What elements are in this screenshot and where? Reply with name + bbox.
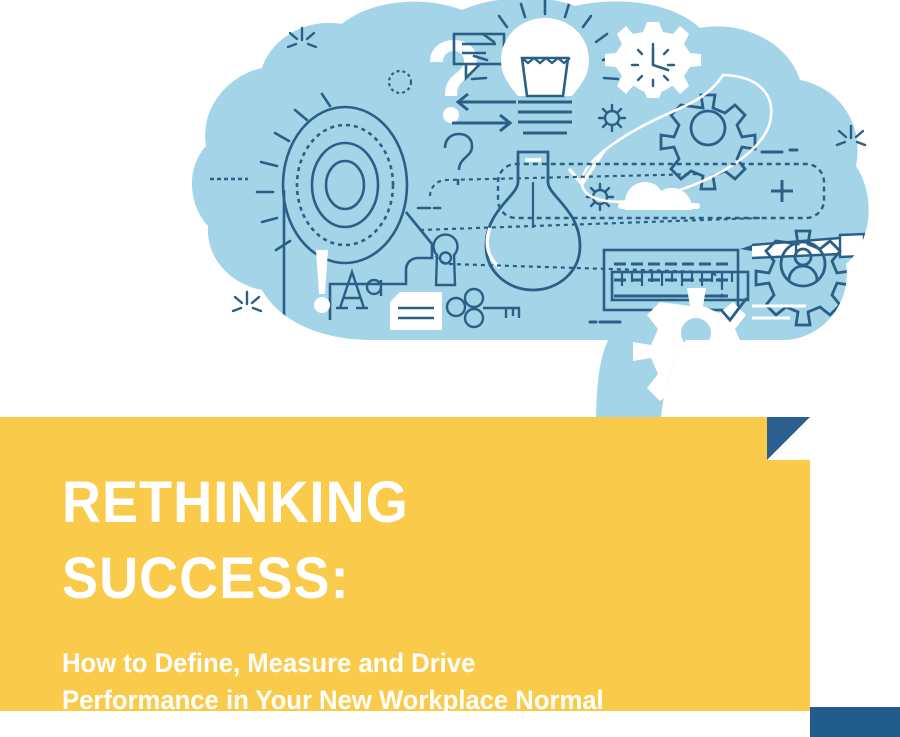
poster-canvas: RETHINKING SUCCESS: How to Define, Measu… xyxy=(0,0,900,737)
headline-line-1: RETHINKING xyxy=(62,465,732,541)
document-icon xyxy=(390,292,442,330)
clock-gear-icon xyxy=(605,22,701,98)
title-banner: RETHINKING SUCCESS: How to Define, Measu… xyxy=(0,417,900,737)
accent-bar-bottom-right xyxy=(810,707,900,737)
brain-with-icons-illustration xyxy=(0,0,900,430)
subtitle-line-1: How to Define, Measure and Drive xyxy=(62,645,746,682)
subtitle-line-2: Performance in Your New Workplace Normal xyxy=(62,682,746,719)
sparkle-icon xyxy=(233,292,261,311)
headline-line-2: SUCCESS: xyxy=(62,541,732,617)
banner-text-block: RETHINKING SUCCESS: How to Define, Measu… xyxy=(62,465,782,719)
corner-fold-triangle-icon xyxy=(767,417,810,460)
